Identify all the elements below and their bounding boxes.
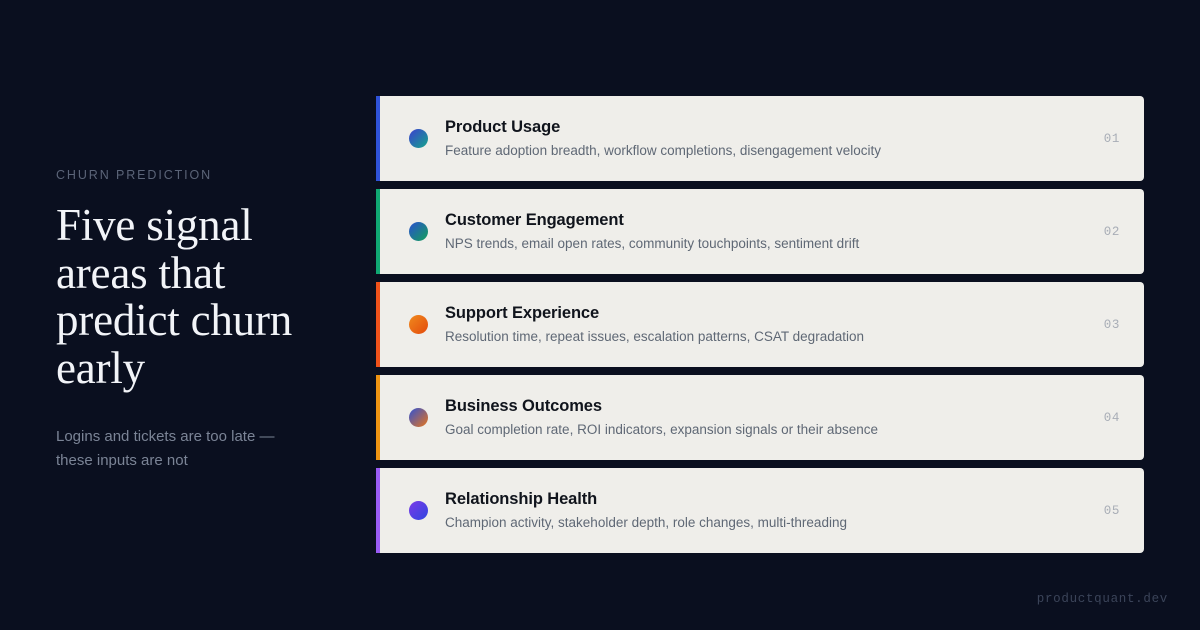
- signal-card[interactable]: Customer EngagementNPS trends, email ope…: [376, 189, 1144, 274]
- signal-card[interactable]: Relationship HealthChampion activity, st…: [376, 468, 1144, 553]
- signal-dot-icon: [409, 222, 428, 241]
- card-accent-bar: [376, 189, 380, 274]
- card-description: Goal completion rate, ROI indicators, ex…: [445, 421, 1088, 439]
- left-panel: CHURN PREDICTION Five signal areas that …: [56, 168, 356, 473]
- signal-dot-icon: [409, 501, 428, 520]
- card-title: Business Outcomes: [445, 396, 1088, 417]
- signal-dot-icon: [409, 408, 428, 427]
- card-accent-bar: [376, 375, 380, 460]
- signal-card-list: Product UsageFeature adoption breadth, w…: [376, 96, 1144, 553]
- card-description: NPS trends, email open rates, community …: [445, 235, 1088, 253]
- card-title: Product Usage: [445, 117, 1088, 138]
- card-description: Feature adoption breadth, workflow compl…: [445, 142, 1088, 160]
- card-title: Support Experience: [445, 303, 1088, 324]
- card-index-number: 04: [1104, 411, 1120, 425]
- card-text-block: Business OutcomesGoal completion rate, R…: [445, 396, 1088, 439]
- signal-card[interactable]: Support ExperienceResolution time, repea…: [376, 282, 1144, 367]
- card-index-number: 03: [1104, 318, 1120, 332]
- card-text-block: Product UsageFeature adoption breadth, w…: [445, 117, 1088, 160]
- signal-card[interactable]: Product UsageFeature adoption breadth, w…: [376, 96, 1144, 181]
- card-title: Relationship Health: [445, 489, 1088, 510]
- slide-root: CHURN PREDICTION Five signal areas that …: [0, 0, 1200, 630]
- card-description: Resolution time, repeat issues, escalati…: [445, 328, 1088, 346]
- card-title: Customer Engagement: [445, 210, 1088, 231]
- footer-domain: productquant.dev: [1037, 592, 1168, 606]
- card-accent-bar: [376, 96, 380, 181]
- card-index-number: 05: [1104, 504, 1120, 518]
- card-accent-bar: [376, 468, 380, 553]
- card-description: Champion activity, stakeholder depth, ro…: [445, 514, 1088, 532]
- eyebrow-label: CHURN PREDICTION: [56, 168, 356, 182]
- card-text-block: Customer EngagementNPS trends, email ope…: [445, 210, 1088, 253]
- card-index-number: 01: [1104, 132, 1120, 146]
- card-accent-bar: [376, 282, 380, 367]
- signal-dot-icon: [409, 129, 428, 148]
- signal-dot-icon: [409, 315, 428, 334]
- page-title: Five signal areas that predict churn ear…: [56, 202, 306, 393]
- card-index-number: 02: [1104, 225, 1120, 239]
- card-text-block: Relationship HealthChampion activity, st…: [445, 489, 1088, 532]
- signal-card[interactable]: Business OutcomesGoal completion rate, R…: [376, 375, 1144, 460]
- page-subtitle: Logins and tickets are too late — these …: [56, 425, 306, 474]
- card-text-block: Support ExperienceResolution time, repea…: [445, 303, 1088, 346]
